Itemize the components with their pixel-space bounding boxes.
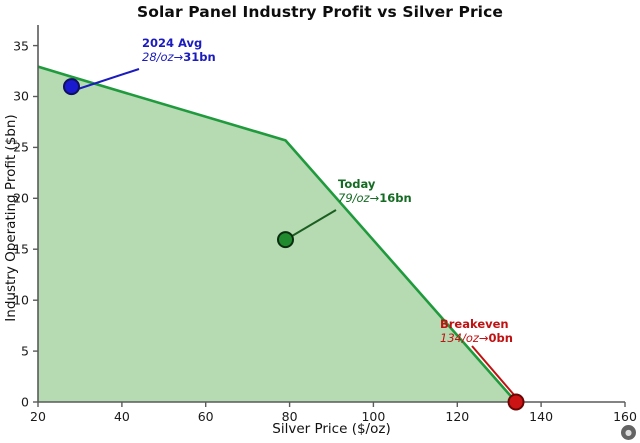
y-tick-label-35: 35 <box>0 39 29 54</box>
y-axis-label: Industry Operating Profit ($bn) <box>3 103 19 333</box>
annotation-breakeven: Breakeven 134/oz→0bn <box>440 318 513 345</box>
annotation-breakeven-arrow: → <box>479 331 489 345</box>
data-point-2024-avg[interactable] <box>64 79 79 94</box>
annotation-today: Today 79/oz→16bn <box>338 178 412 205</box>
annotation-2024-avg-arrow: → <box>174 50 184 64</box>
annotation-today-value: 16bn <box>379 191 411 205</box>
annotation-today-price: 79/oz <box>338 191 370 205</box>
chart-figure: Solar Panel Industry Profit vs Silver Pr… <box>0 0 640 443</box>
x-axis-label: Silver Price ($/oz) <box>38 421 625 437</box>
annotation-2024-avg-title: 2024 Avg <box>142 37 216 51</box>
annotation-arrow-2024-avg <box>78 69 139 89</box>
annotation-today-arrow: → <box>370 191 380 205</box>
data-point-breakeven[interactable] <box>509 395 524 410</box>
annotation-2024-avg-detail: 28/oz→31bn <box>142 51 216 65</box>
annotation-2024-avg-value: 31bn <box>183 50 215 64</box>
annotation-breakeven-value: 0bn <box>489 331 513 345</box>
site-logo-watermark-icon: ● <box>621 425 636 440</box>
plot-area <box>0 0 640 443</box>
annotation-today-title: Today <box>338 178 412 192</box>
y-tick-label-0: 0 <box>0 395 29 410</box>
annotation-today-detail: 79/oz→16bn <box>338 192 412 206</box>
annotation-breakeven-detail: 134/oz→0bn <box>440 332 513 346</box>
y-tick-label-5: 5 <box>0 344 29 359</box>
data-point-today[interactable] <box>278 232 293 247</box>
annotation-2024-avg-price: 28/oz <box>142 50 174 64</box>
annotation-breakeven-price: 134/oz <box>440 331 479 345</box>
profit-area-fill <box>38 67 516 402</box>
annotation-breakeven-title: Breakeven <box>440 318 513 332</box>
y-tick-label-30: 30 <box>0 89 29 104</box>
annotation-2024-avg: 2024 Avg 28/oz→31bn <box>142 37 216 64</box>
